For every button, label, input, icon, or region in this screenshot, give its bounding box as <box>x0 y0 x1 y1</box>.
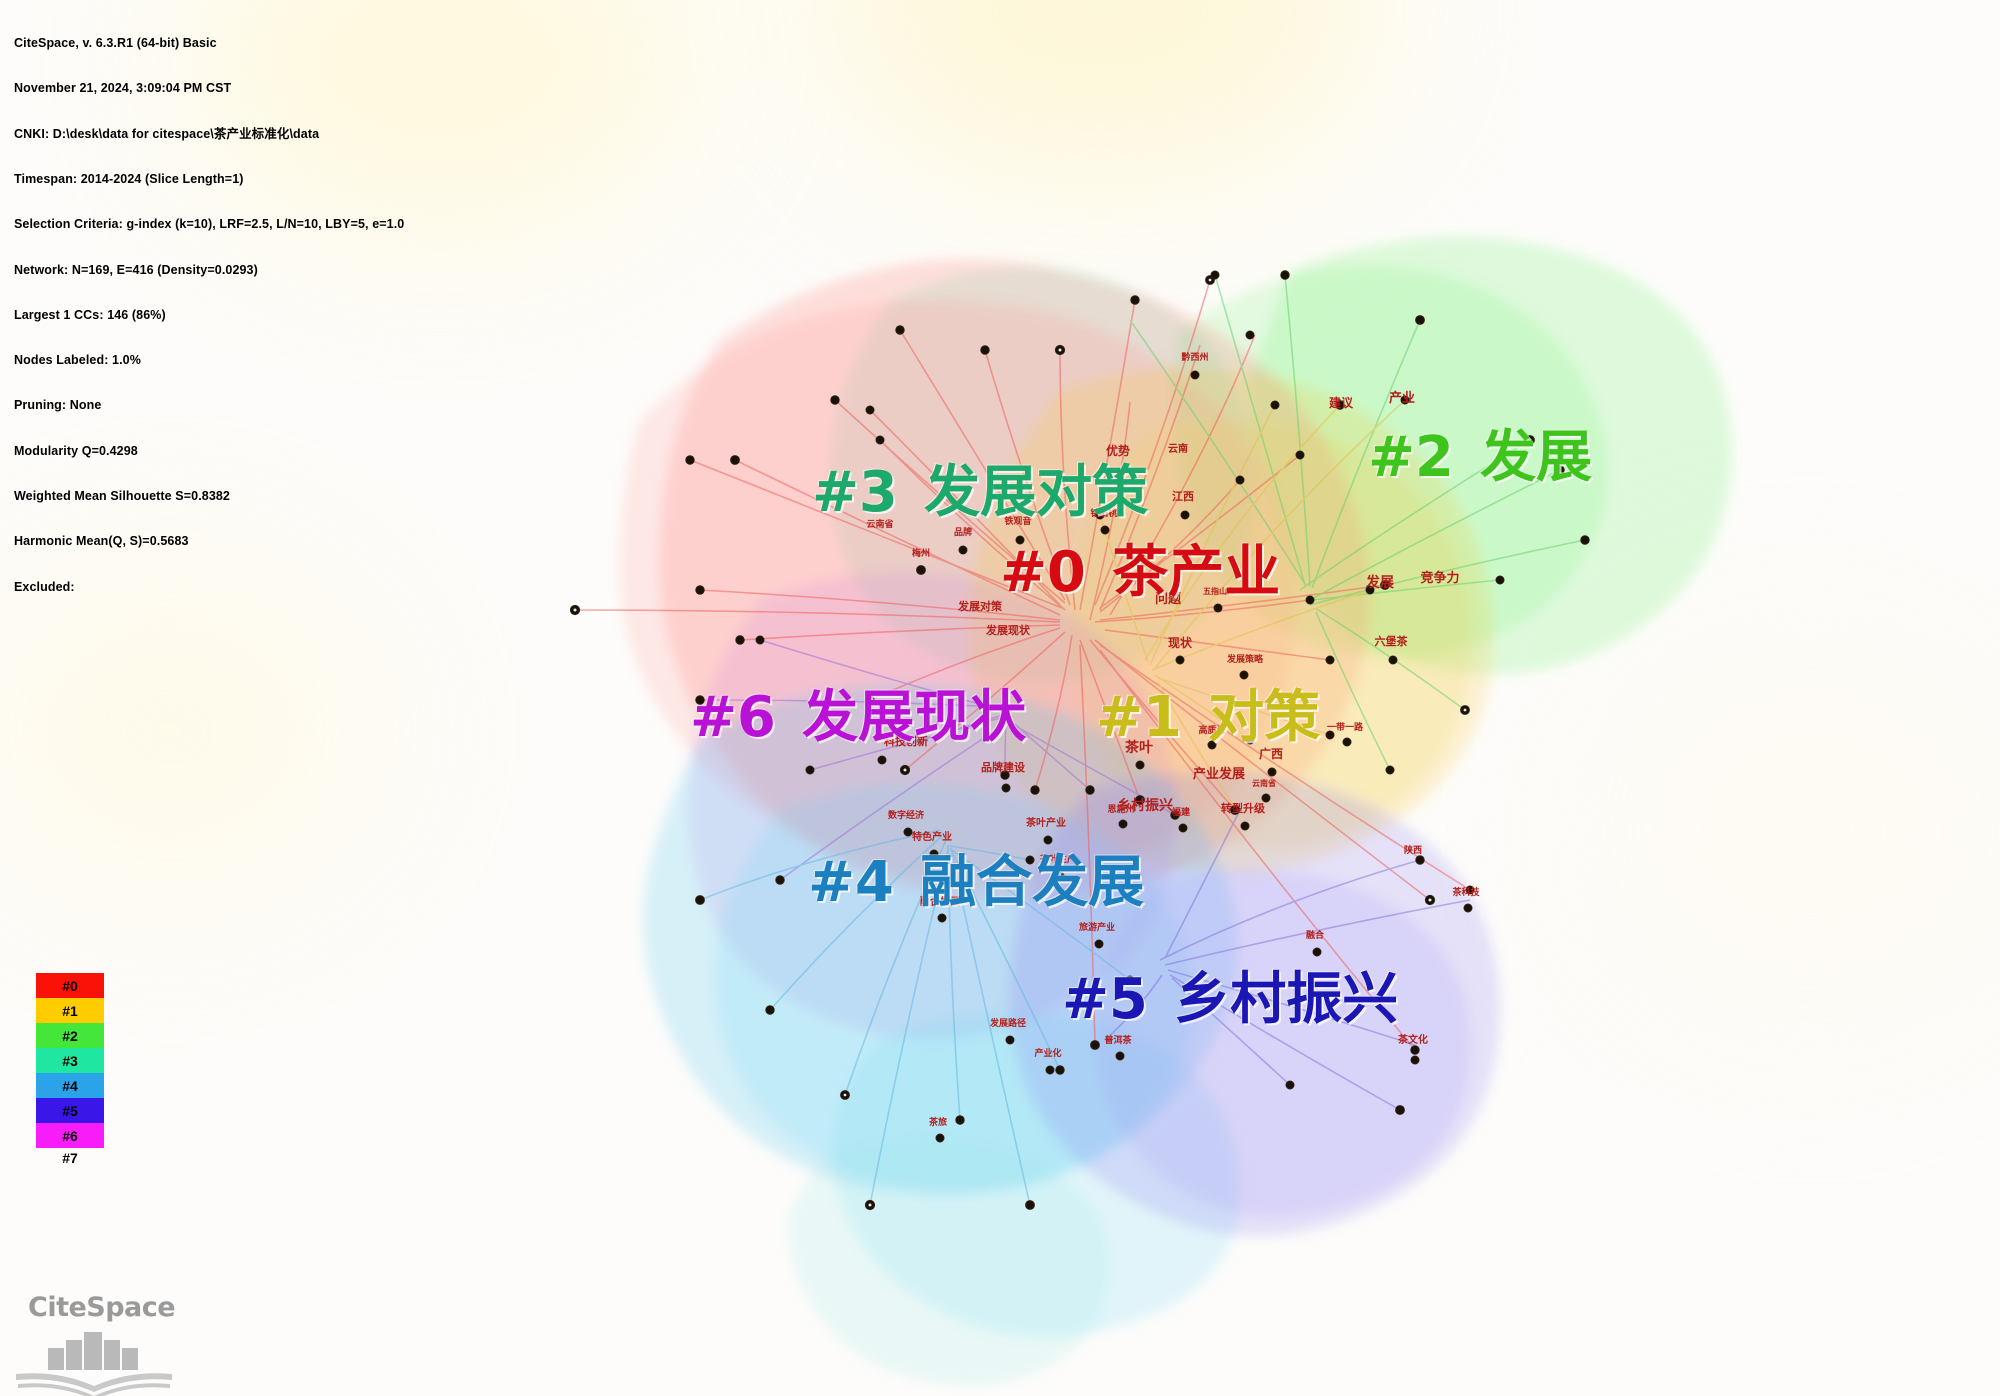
node-label: 品牌 <box>954 526 972 538</box>
node-label: 发展策略 <box>1226 653 1264 665</box>
node-label: 茶旅 <box>928 1116 947 1128</box>
legend-item-2[interactable]: #2 <box>36 1023 104 1048</box>
legend-item-1[interactable]: #1 <box>36 998 104 1023</box>
node-label: 旅游产业 <box>1079 921 1115 933</box>
node-label: 竞争力 <box>1420 570 1459 586</box>
cluster-id: #6 <box>690 685 776 750</box>
node-label: 发展现状 <box>985 623 1031 637</box>
node-label: 茶文化 <box>1397 1033 1428 1046</box>
node-label: 乡村振兴 <box>1117 797 1173 814</box>
cluster-term: 融合发展 <box>901 850 1145 915</box>
cluster-label-1[interactable]: #1 对策 <box>1096 690 1320 746</box>
legend-item-7[interactable]: #7 <box>36 1150 104 1166</box>
node-label: 陕西 <box>1404 844 1422 856</box>
cluster-term: 发展现状 <box>783 685 1027 750</box>
node-label: 发展路径 <box>989 1017 1026 1029</box>
node-label: 茶科技 <box>1451 886 1480 898</box>
cluster-term: 乡村振兴 <box>1155 967 1399 1032</box>
legend-item-4[interactable]: #4 <box>36 1073 104 1098</box>
node-label: 梅州 <box>912 547 930 559</box>
node-label: 云南省 <box>1252 778 1276 788</box>
node-label: 江西 <box>1172 489 1194 503</box>
node-label: 融合 <box>1306 929 1325 941</box>
node-label: 一带一路 <box>1327 721 1364 733</box>
cluster-term: 茶产业 <box>1093 540 1281 605</box>
node-label: 发展对策 <box>957 599 1003 613</box>
legend-item-6[interactable]: #6 <box>36 1123 104 1148</box>
node-label: 云南 <box>1168 442 1188 455</box>
citespace-logo: CiteSpace <box>8 1292 188 1387</box>
legend-item-0[interactable]: #0 <box>36 973 104 998</box>
cluster-id: #2 <box>1368 425 1454 490</box>
node-label: 产业化 <box>1034 1047 1061 1059</box>
node-label: 普洱茶 <box>1104 1034 1132 1046</box>
legend-item-5[interactable]: #5 <box>36 1098 104 1123</box>
node-label: 产业发展 <box>1193 766 1246 782</box>
cluster-label-6[interactable]: #6 发展现状 <box>690 690 1026 746</box>
cluster-term: 对策 <box>1189 685 1321 750</box>
node-label: 现状 <box>1168 635 1193 650</box>
cluster-label-5[interactable]: #5 乡村振兴 <box>1062 972 1398 1028</box>
node-label: 优势 <box>1106 443 1130 458</box>
cluster-term: 发展 <box>1461 425 1593 490</box>
node-label: 六堡茶 <box>1375 634 1409 648</box>
cluster-label-2[interactable]: #2 发展 <box>1368 430 1592 486</box>
logo-book-icon <box>8 1326 188 1396</box>
citespace-wordmark: CiteSpace <box>28 1292 175 1323</box>
node-label: 建议 <box>1328 395 1354 410</box>
node-label: 转型升级 <box>1221 801 1266 815</box>
node-label: 特色产业 <box>912 830 952 843</box>
node-label: 产业 <box>1389 390 1415 406</box>
cluster-id: #3 <box>812 460 898 525</box>
cluster-color-legend[interactable]: #0#1#2#3#4#5#6 <box>36 973 104 1148</box>
node-label: 发展 <box>1365 574 1394 591</box>
cluster-label-0[interactable]: #0 茶产业 <box>1000 545 1280 601</box>
cluster-id: #4 <box>808 850 894 915</box>
cluster-id: #5 <box>1062 967 1148 1032</box>
legend-item-3[interactable]: #3 <box>36 1048 104 1073</box>
cluster-id: #0 <box>1000 540 1086 605</box>
node-label: 品牌建设 <box>981 760 1026 774</box>
cluster-label-3[interactable]: #3 发展对策 <box>812 465 1148 521</box>
cluster-term: 发展对策 <box>905 460 1149 525</box>
cluster-label-4[interactable]: #4 融合发展 <box>808 855 1144 911</box>
node-label: 黔西州 <box>1180 351 1208 363</box>
node-label: 福建 <box>1171 806 1191 818</box>
node-label: 茶叶产业 <box>1025 816 1066 829</box>
node-label: 数字经济 <box>888 809 925 821</box>
cluster-id: #1 <box>1096 685 1182 750</box>
